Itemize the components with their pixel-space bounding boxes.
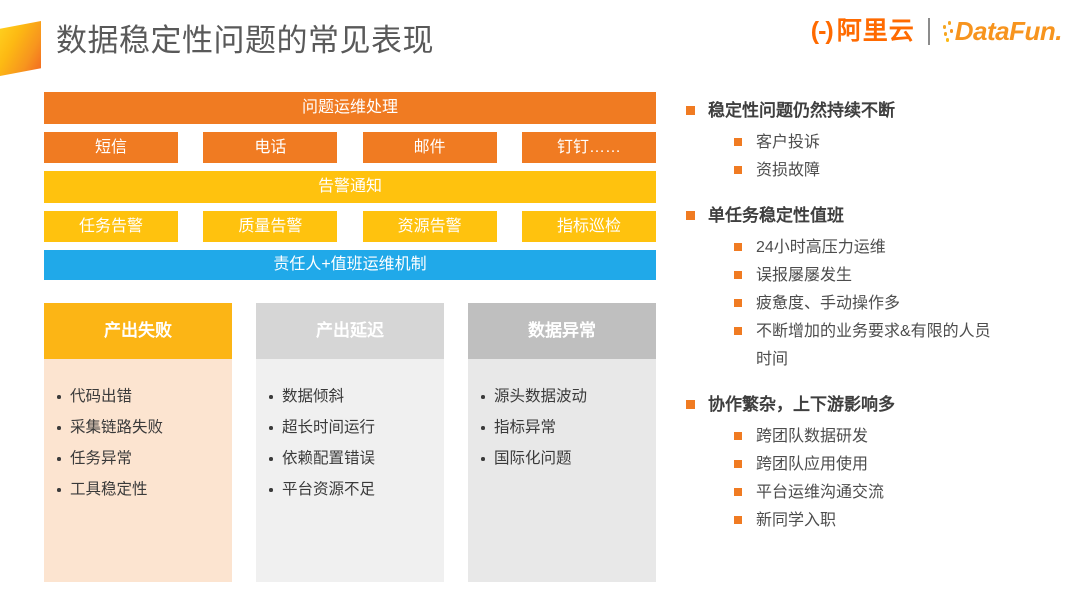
square-bullet-icon	[734, 243, 742, 251]
stability-diagram: 问题运维处理 短信 电话 邮件 钉钉…… 告警通知 任务告警 质量告警 资源告警…	[44, 92, 656, 288]
notification-channel-row: 短信 电话 邮件 钉钉……	[44, 132, 656, 163]
square-bullet-icon	[734, 327, 742, 335]
alert-chip-task: 任务告警	[44, 211, 178, 242]
alibaba-cloud-wordmark: 阿里云	[837, 19, 915, 44]
list-item: 24小时高压力运维	[734, 234, 1066, 262]
list-item-text: 新同学入职	[756, 507, 836, 535]
alert-notification-bar: 告警通知	[44, 171, 656, 203]
column-list-output-delay: 数据倾斜 超长时间运行 依赖配置错误 平台资源不足	[268, 381, 444, 505]
channel-chip-dingtalk: 钉钉……	[522, 132, 656, 163]
failure-category-columns: 产出失败 代码出错 采集链路失败 任务异常 工具稳定性 产出延迟 数据倾斜 超长…	[44, 303, 656, 582]
column-title-data-anomaly: 数据异常	[468, 303, 656, 359]
owner-duty-bar: 责任人+值班运维机制	[44, 250, 656, 280]
square-bullet-icon	[686, 211, 695, 220]
square-bullet-icon	[734, 516, 742, 524]
group-heading-ongoing-issues: 稳定性问题仍然持续不断	[686, 98, 1066, 124]
list-item-text: 误报屡屡发生	[756, 262, 852, 290]
list-item-text: 疲惫度、手动操作多	[756, 290, 900, 318]
corner-gradient-decoration	[0, 21, 41, 76]
list-item-text: 不断增加的业务要求&有限的人员时间	[756, 318, 1006, 374]
page-title: 数据稳定性问题的常见表现	[56, 19, 434, 63]
square-bullet-icon	[734, 138, 742, 146]
pain-point-group-ongoing-issues: 稳定性问题仍然持续不断 客户投诉 资损故障	[686, 98, 1066, 185]
list-item: 误报屡屡发生	[734, 262, 1066, 290]
list-item: 数据倾斜	[268, 381, 444, 412]
column-list-output-failure: 代码出错 采集链路失败 任务异常 工具稳定性	[56, 381, 232, 505]
ops-handling-bar: 问题运维处理	[44, 92, 656, 124]
column-title-output-delay: 产出延迟	[256, 303, 444, 359]
square-bullet-icon	[734, 488, 742, 496]
square-bullet-icon	[734, 271, 742, 279]
channel-chip-email: 邮件	[363, 132, 497, 163]
square-bullet-icon	[686, 400, 695, 409]
list-item-text: 平台运维沟通交流	[756, 479, 884, 507]
datafun-logo: DataFun.	[943, 18, 1062, 44]
slide-canvas: 数据稳定性问题的常见表现 (-) 阿里云 DataFun. 问题运维处理 短信 …	[0, 0, 1080, 602]
column-body-output-failure: 代码出错 采集链路失败 任务异常 工具稳定性	[44, 359, 232, 582]
list-item: 疲惫度、手动操作多	[734, 290, 1066, 318]
datafun-wordmark: DataFun.	[955, 18, 1062, 44]
square-bullet-icon	[734, 432, 742, 440]
pain-point-group-collaboration: 协作繁杂，上下游影响多 跨团队数据研发 跨团队应用使用 平台运维沟通交流 新同	[686, 392, 1066, 535]
sub-list-single-task-duty: 24小时高压力运维 误报屡屡发生 疲惫度、手动操作多 不断增加的业务要求&有限的…	[686, 234, 1066, 374]
list-item: 依赖配置错误	[268, 443, 444, 474]
group-heading-text: 稳定性问题仍然持续不断	[708, 98, 895, 124]
pain-points-panel: 稳定性问题仍然持续不断 客户投诉 资损故障 单任务稳定性值班	[686, 98, 1066, 553]
list-item: 新同学入职	[734, 507, 1066, 535]
list-item: 客户投诉	[734, 129, 1066, 157]
group-heading-single-task-duty: 单任务稳定性值班	[686, 203, 1066, 229]
sub-list-ongoing-issues: 客户投诉 资损故障	[686, 129, 1066, 185]
list-item: 国际化问题	[480, 443, 656, 474]
list-item: 不断增加的业务要求&有限的人员时间	[734, 318, 1066, 374]
column-list-data-anomaly: 源头数据波动 指标异常 国际化问题	[480, 381, 656, 474]
list-item-text: 跨团队数据研发	[756, 423, 868, 451]
column-body-data-anomaly: 源头数据波动 指标异常 国际化问题	[468, 359, 656, 582]
alert-chip-metric-inspection: 指标巡检	[522, 211, 656, 242]
list-item-text: 客户投诉	[756, 129, 820, 157]
list-item: 跨团队应用使用	[734, 451, 1066, 479]
alibaba-cloud-mark-icon: (-)	[811, 19, 833, 44]
list-item: 资损故障	[734, 157, 1066, 185]
list-item: 指标异常	[480, 412, 656, 443]
square-bullet-icon	[734, 299, 742, 307]
list-item-text: 资损故障	[756, 157, 820, 185]
group-heading-collaboration: 协作繁杂，上下游影响多	[686, 392, 1066, 418]
column-title-output-failure: 产出失败	[44, 303, 232, 359]
alibaba-cloud-logo: (-) 阿里云	[811, 19, 915, 44]
logo-group: (-) 阿里云 DataFun.	[811, 13, 1062, 49]
channel-chip-sms: 短信	[44, 132, 178, 163]
category-column-data-anomaly: 数据异常 源头数据波动 指标异常 国际化问题	[468, 303, 656, 582]
list-item: 平台资源不足	[268, 474, 444, 505]
alert-chip-resource: 资源告警	[363, 211, 497, 242]
list-item: 任务异常	[56, 443, 232, 474]
alert-chip-quality: 质量告警	[203, 211, 337, 242]
logo-divider	[928, 18, 930, 45]
sub-list-collaboration: 跨团队数据研发 跨团队应用使用 平台运维沟通交流 新同学入职	[686, 423, 1066, 535]
list-item: 源头数据波动	[480, 381, 656, 412]
category-column-output-failure: 产出失败 代码出错 采集链路失败 任务异常 工具稳定性	[44, 303, 232, 582]
list-item-text: 跨团队应用使用	[756, 451, 868, 479]
datafun-dots-icon	[943, 20, 957, 42]
group-heading-text: 协作繁杂，上下游影响多	[708, 392, 895, 418]
group-heading-text: 单任务稳定性值班	[708, 203, 844, 229]
list-item: 代码出错	[56, 381, 232, 412]
list-item: 平台运维沟通交流	[734, 479, 1066, 507]
square-bullet-icon	[734, 460, 742, 468]
pain-point-group-single-task-duty: 单任务稳定性值班 24小时高压力运维 误报屡屡发生 疲惫度、手动操作多 不断增	[686, 203, 1066, 374]
list-item: 跨团队数据研发	[734, 423, 1066, 451]
alert-type-row: 任务告警 质量告警 资源告警 指标巡检	[44, 211, 656, 242]
list-item: 采集链路失败	[56, 412, 232, 443]
list-item: 超长时间运行	[268, 412, 444, 443]
square-bullet-icon	[734, 166, 742, 174]
channel-chip-phone: 电话	[203, 132, 337, 163]
column-body-output-delay: 数据倾斜 超长时间运行 依赖配置错误 平台资源不足	[256, 359, 444, 582]
list-item: 工具稳定性	[56, 474, 232, 505]
list-item-text: 24小时高压力运维	[756, 234, 886, 262]
category-column-output-delay: 产出延迟 数据倾斜 超长时间运行 依赖配置错误 平台资源不足	[256, 303, 444, 582]
square-bullet-icon	[686, 106, 695, 115]
